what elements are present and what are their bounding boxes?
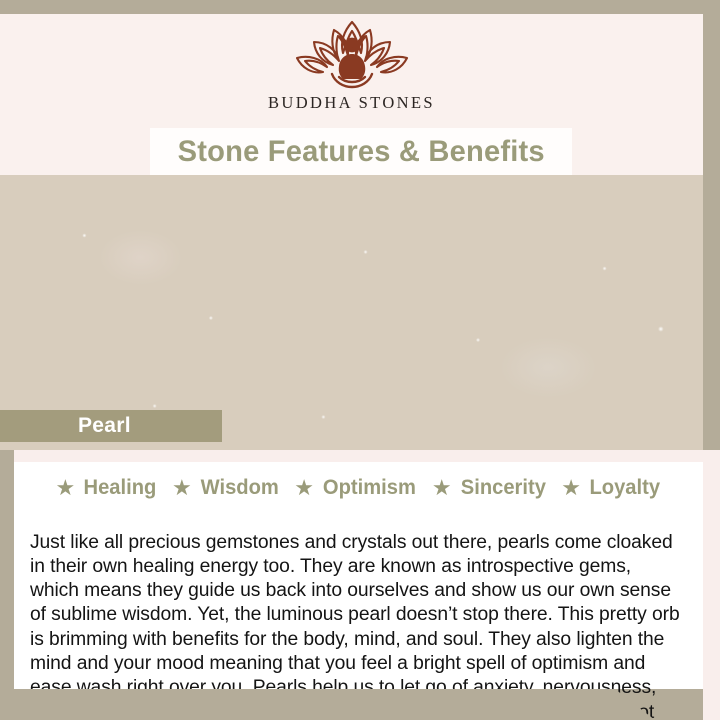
star-icon: ★ bbox=[172, 477, 192, 499]
benefit-label: Wisdom bbox=[200, 476, 278, 500]
pearl-photo bbox=[0, 175, 703, 450]
brand-logo: BUDDHA STONES bbox=[0, 14, 703, 124]
benefit-item-optimism: ★ Optimism bbox=[294, 476, 418, 500]
brand-name: BUDDHA STONES bbox=[268, 93, 435, 113]
benefits-list: ★ Healing ★ Wisdom ★ Optimism ★ Sincerit… bbox=[14, 476, 703, 500]
lotus-meditation-figure-icon bbox=[277, 18, 427, 92]
star-icon: ★ bbox=[55, 477, 75, 499]
star-icon: ★ bbox=[294, 477, 314, 499]
benefit-label: Healing bbox=[84, 476, 157, 500]
benefit-item-sincerity: ★ Sincerity bbox=[432, 476, 547, 500]
stone-name-tab: Pearl bbox=[0, 410, 222, 442]
star-icon: ★ bbox=[432, 477, 452, 499]
frame-top-edge bbox=[0, 0, 720, 14]
frame-left-edge bbox=[0, 450, 14, 720]
pearl-photo-highlights bbox=[0, 175, 703, 450]
benefit-item-loyalty: ★ Loyalty bbox=[561, 476, 661, 500]
frame-right-edge bbox=[703, 0, 720, 450]
content-card: ★ Healing ★ Wisdom ★ Optimism ★ Sincerit… bbox=[14, 462, 703, 689]
poster-root: BUDDHA STONES Stone Features & Benefits … bbox=[0, 0, 720, 720]
content-top-accent bbox=[14, 450, 703, 462]
benefit-label: Loyalty bbox=[590, 476, 661, 500]
frame-right-lower-edge bbox=[703, 450, 720, 720]
benefit-label: Sincerity bbox=[460, 476, 545, 500]
section-title-band: Stone Features & Benefits bbox=[150, 128, 572, 175]
content-section: ★ Healing ★ Wisdom ★ Optimism ★ Sincerit… bbox=[0, 450, 720, 720]
stone-name-label: Pearl bbox=[78, 414, 131, 438]
benefit-item-healing: ★ Healing bbox=[55, 476, 158, 500]
star-icon: ★ bbox=[561, 477, 581, 499]
benefit-item-wisdom: ★ Wisdom bbox=[172, 476, 280, 500]
benefit-label: Optimism bbox=[323, 476, 416, 500]
page-title: Stone Features & Benefits bbox=[177, 135, 544, 169]
footer-taupe-bar bbox=[0, 689, 720, 720]
